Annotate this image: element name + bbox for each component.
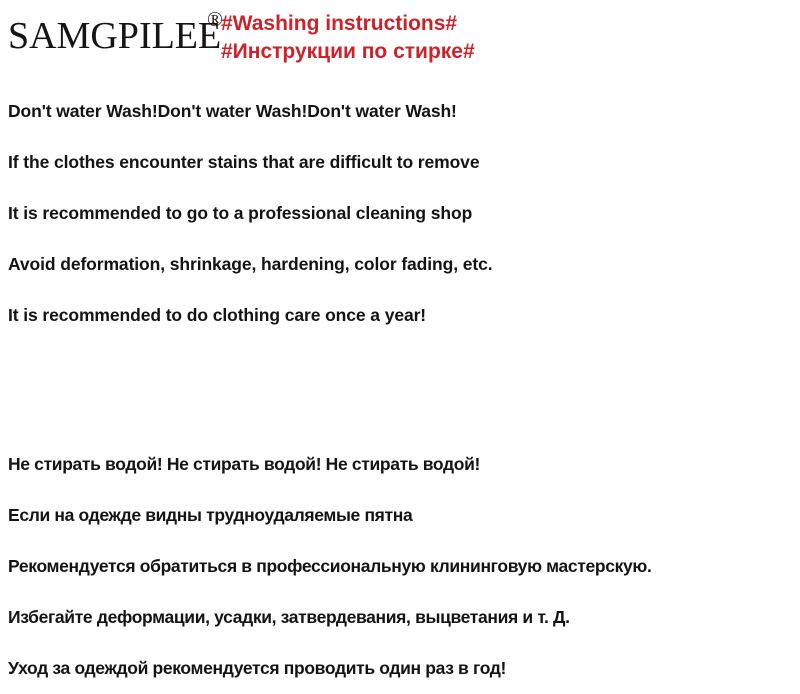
instruction-line: It is recommended to go to a professiona… (8, 188, 800, 239)
instruction-line: Don't water Wash!Don't water Wash!Don't … (8, 86, 800, 137)
instruction-line: Уход за одеждой рекомендуется проводить … (8, 643, 800, 694)
instruction-line: If the clothes encounter stains that are… (8, 137, 800, 188)
instruction-line: Если на одежде видны трудноудаляемые пят… (8, 490, 800, 541)
heading-washing-instructions-ru: #Инструкции по стирке# (221, 38, 781, 66)
instruction-line: Не стирать водой! Не стирать водой! Не с… (8, 439, 800, 490)
instruction-line: Avoid deformation, shrinkage, hardening,… (8, 239, 800, 290)
instruction-line: It is recommended to do clothing care on… (8, 290, 800, 341)
registered-trademark-icon: ® (207, 9, 223, 30)
washing-instructions-page: SAMGPILEE ® #Washing instructions# #Инст… (0, 0, 800, 681)
instruction-line: Рекомендуется обратиться в профессиональ… (8, 541, 800, 592)
heading-group: #Washing instructions# #Инструкции по ст… (221, 10, 781, 66)
instructions-block-english: Don't water Wash!Don't water Wash!Don't … (8, 86, 800, 341)
instructions-block-russian: Не стирать водой! Не стирать водой! Не с… (8, 439, 800, 694)
instruction-line: Избегайте деформации, усадки, затвердева… (8, 592, 800, 643)
brand-logo-samgpilee: SAMGPILEE (8, 16, 221, 56)
page-header: SAMGPILEE ® #Washing instructions# #Инст… (0, 0, 800, 82)
heading-washing-instructions-en: #Washing instructions# (221, 10, 781, 38)
